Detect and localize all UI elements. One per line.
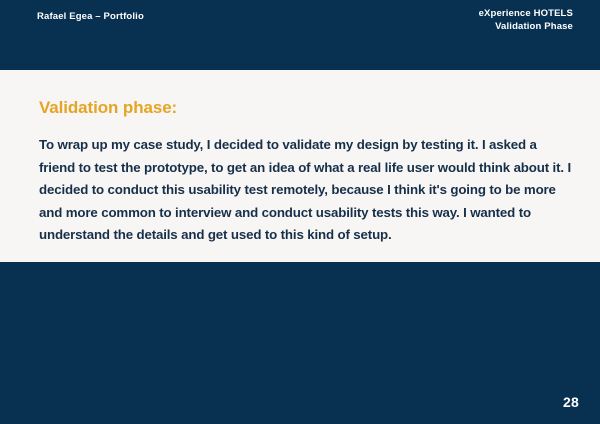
page-number: 28 [563, 394, 579, 410]
body-paragraph: To wrap up my case study, I decided to v… [39, 134, 573, 247]
slide-canvas: Rafael Egea – Portfolio eXperience HOTEL… [0, 0, 600, 424]
slide-content-band: Validation phase: To wrap up my case stu… [0, 70, 600, 262]
project-name-label: eXperience HOTELS [479, 8, 573, 21]
section-heading: Validation phase: [39, 98, 177, 118]
project-title-block: eXperience HOTELS Validation Phase [479, 8, 573, 33]
project-phase-label: Validation Phase [479, 21, 573, 34]
slide-footer-band: 28 [0, 262, 600, 424]
portfolio-author-label: Rafael Egea – Portfolio [37, 11, 144, 22]
slide-header-band: Rafael Egea – Portfolio eXperience HOTEL… [0, 0, 600, 70]
